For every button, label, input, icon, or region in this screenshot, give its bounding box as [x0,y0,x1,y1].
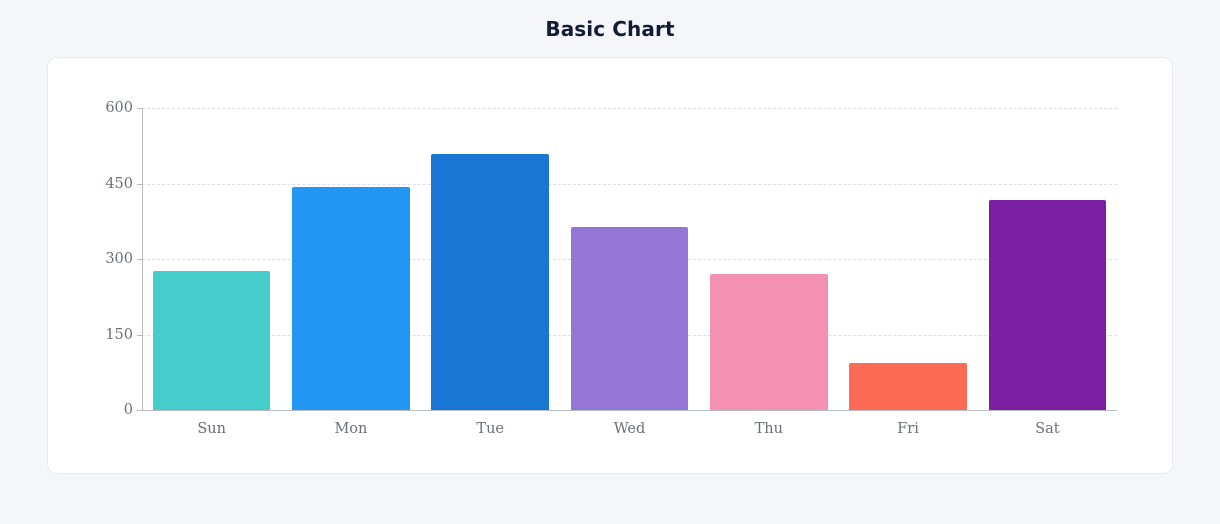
bar-fri[interactable] [849,363,967,410]
y-axis-label: 0 [124,402,133,418]
y-axis-label: 300 [105,251,133,267]
bar-thu[interactable] [710,274,828,410]
y-axis-tick [137,410,142,411]
y-axis-label: 450 [105,176,133,192]
bar-wed[interactable] [571,227,689,410]
chart-plot-wrapper: 0150300450600 SunMonTueWedThuFriSat [48,58,1174,475]
page-title: Basic Chart [0,17,1220,41]
bar-mon[interactable] [292,187,410,410]
plot-area: 0150300450600 SunMonTueWedThuFriSat [142,108,1117,410]
x-axis-label-mon: Mon [334,421,367,437]
x-axis-label-thu: Thu [755,421,783,437]
y-axis-label: 600 [105,100,133,116]
y-axis-label: 150 [105,327,133,343]
x-axis-label-fri: Fri [897,421,919,437]
bars-group [142,108,1117,410]
x-axis-label-sat: Sat [1035,421,1059,437]
x-axis-label-wed: Wed [614,421,646,437]
bar-tue[interactable] [431,154,549,410]
x-axis-label-sun: Sun [197,421,226,437]
chart-card: 0150300450600 SunMonTueWedThuFriSat [47,57,1173,474]
x-axis-label-tue: Tue [476,421,504,437]
x-axis-line [138,410,1117,411]
bar-sat[interactable] [989,200,1107,410]
bar-sun[interactable] [153,271,271,410]
chart-page: Basic Chart 0150300450600 SunMonTueWedTh… [0,0,1220,524]
